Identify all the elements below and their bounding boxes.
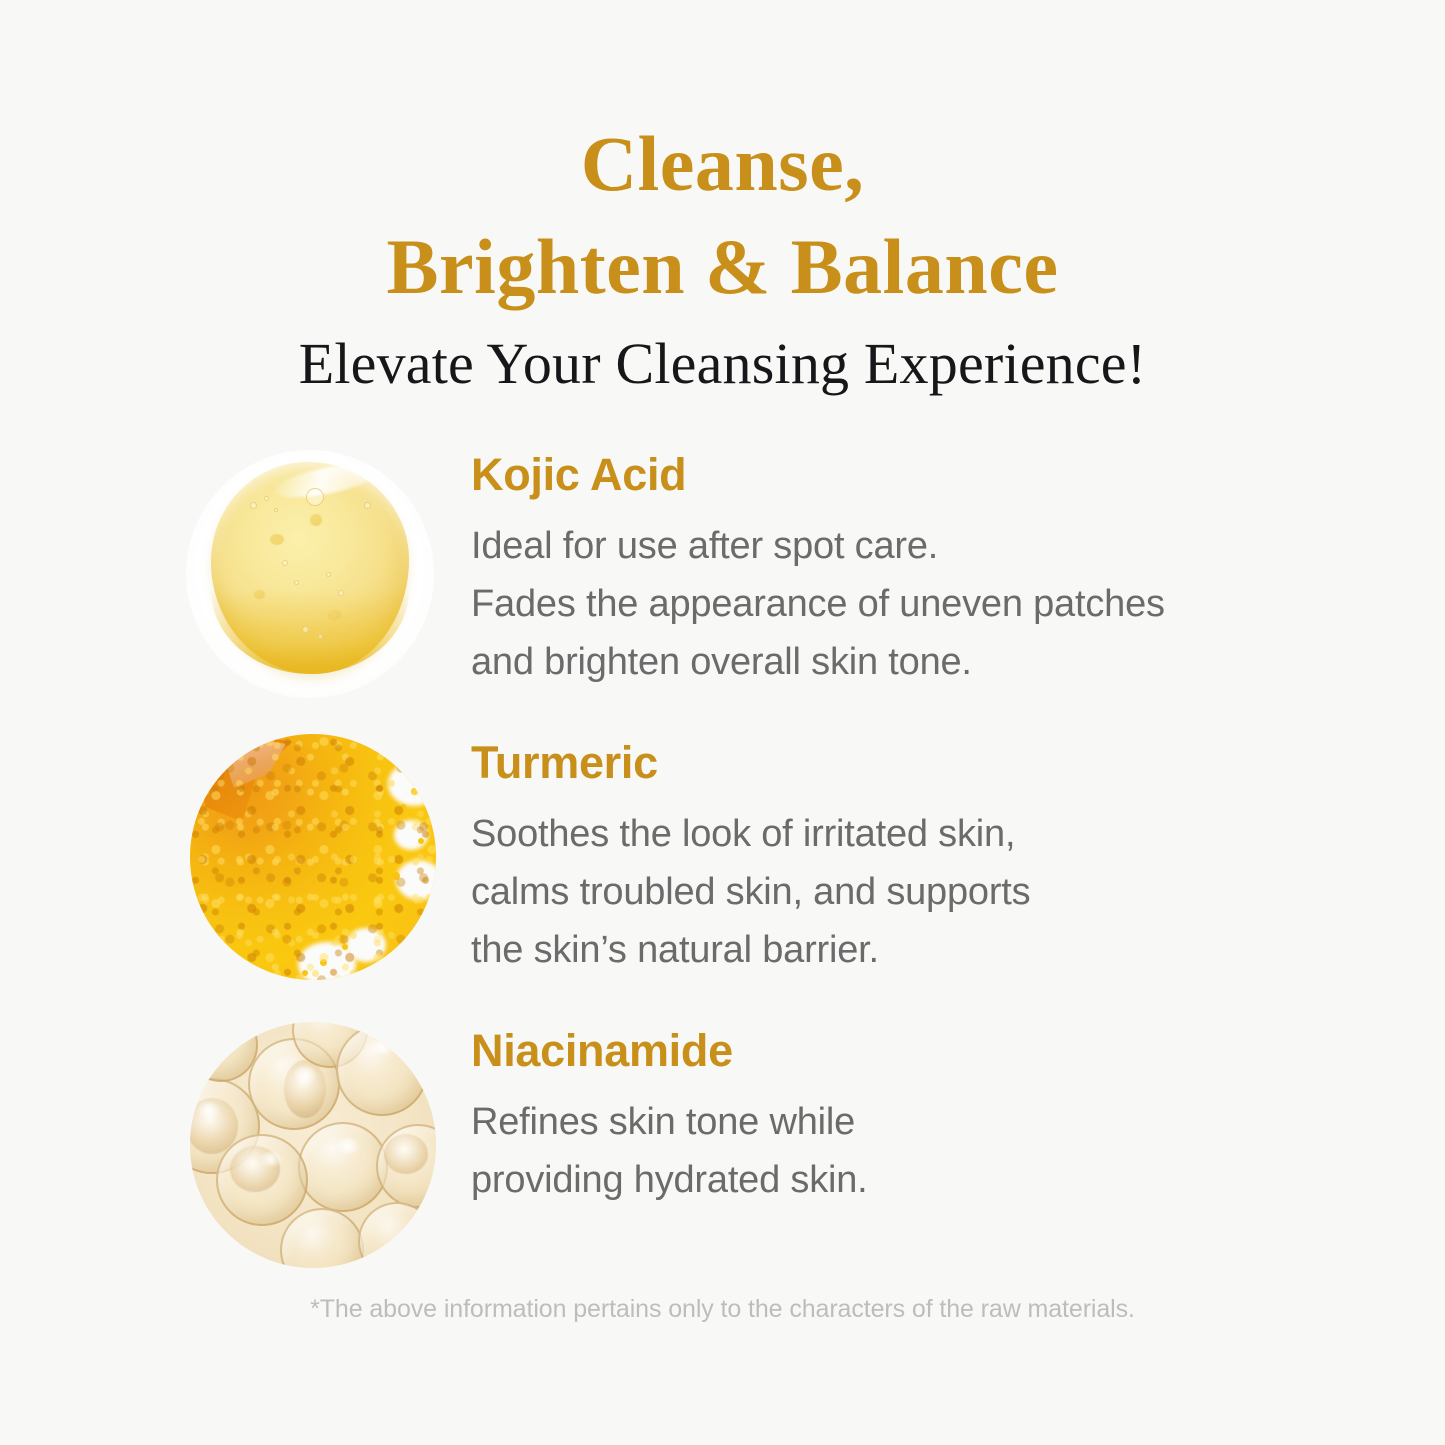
gel-bubble [364, 502, 371, 509]
turmeric-grain [392, 872, 400, 880]
ingredient-name: Niacinamide [471, 1025, 1291, 1077]
gel-bubble [318, 634, 323, 639]
ingredient-name: Kojic Acid [471, 449, 1291, 501]
capsule-highlight [336, 1138, 360, 1154]
description-line: Fades the appearance of uneven patches [471, 575, 1291, 633]
page-title: Cleanse, Brighten & Balance [0, 112, 1445, 318]
description-line: calms troubled skin, and supports [471, 863, 1291, 921]
ingredient-row-kojic-acid: Kojic Acid Ideal for use after spot care… [0, 440, 1445, 728]
ingredient-description: Soothes the look of irritated skin, calm… [471, 805, 1291, 979]
kojic-acid-gel-drop-photo [178, 440, 442, 704]
capsule-highlight [294, 1066, 316, 1084]
gel-bubble [302, 626, 309, 633]
capsule-highlight [198, 1102, 220, 1118]
description-line: providing hydrated skin. [471, 1151, 1291, 1209]
turmeric-grain [342, 944, 348, 950]
ingredient-text-turmeric: Turmeric Soothes the look of irritated s… [471, 728, 1291, 979]
niacinamide-capsules-photo [178, 1016, 442, 1280]
ingredient-row-niacinamide: Niacinamide Refines skin tone while prov… [0, 1016, 1445, 1304]
header: Cleanse, Brighten & Balance Elevate Your… [0, 112, 1445, 398]
turmeric-white-gap [298, 942, 356, 980]
turmeric-root-chunk [196, 734, 292, 852]
ingredient-thumbnail-turmeric [178, 728, 442, 992]
disclaimer-footnote: *The above information pertains only to … [0, 1295, 1445, 1324]
turmeric-white-gap [388, 762, 436, 806]
niacinamide-capsules-circle [190, 1022, 436, 1268]
gel-droplet [270, 534, 284, 545]
infographic-page: Cleanse, Brighten & Balance Elevate Your… [0, 0, 1445, 1445]
turmeric-white-gap [346, 928, 386, 962]
ingredient-name: Turmeric [471, 737, 1291, 789]
page-title-line-1: Cleanse, [581, 120, 864, 207]
turmeric-grain [302, 970, 308, 976]
gel-bubble [306, 488, 324, 506]
ingredient-text-niacinamide: Niacinamide Refines skin tone while prov… [471, 1016, 1291, 1209]
gel-bubble [326, 572, 331, 577]
ingredient-description: Ideal for use after spot care. Fades the… [471, 517, 1291, 691]
gel-bubble [338, 590, 344, 596]
gel-droplet [310, 514, 322, 526]
ingredient-list: Kojic Acid Ideal for use after spot care… [0, 440, 1445, 1304]
ingredient-thumbnail-niacinamide [178, 1016, 442, 1280]
turmeric-grain [320, 959, 327, 966]
capsule-highlight [260, 1152, 282, 1166]
description-line: and brighten overall skin tone. [471, 633, 1291, 691]
description-line: the skin’s natural barrier. [471, 921, 1291, 979]
gel-droplet [328, 610, 341, 620]
capsule-bubble [280, 1208, 364, 1268]
ingredient-description: Refines skin tone while providing hydrat… [471, 1093, 1291, 1209]
capsule-highlight [368, 1040, 396, 1054]
gel-bubble [250, 502, 257, 509]
page-title-line-2: Brighten & Balance [0, 215, 1445, 318]
capsule-bubble [336, 1024, 428, 1116]
turmeric-powder-photo [178, 728, 442, 992]
gel-bubble [294, 580, 299, 585]
capsule-highlight [212, 1026, 238, 1036]
turmeric-grain [411, 788, 418, 795]
gel-droplet [254, 590, 265, 599]
turmeric-powder-circle [190, 734, 436, 980]
page-subtitle: Elevate Your Cleansing Experience! [0, 330, 1445, 398]
description-line: Refines skin tone while [471, 1093, 1291, 1151]
capsule-bubble [358, 1202, 436, 1268]
turmeric-root-chunk-light [224, 738, 286, 796]
gel-bubble [282, 560, 288, 566]
capsule-bubble [298, 1122, 388, 1212]
capsule-core [384, 1134, 428, 1174]
gel-bubble [274, 508, 278, 512]
ingredient-row-turmeric: Turmeric Soothes the look of irritated s… [0, 728, 1445, 1016]
description-line: Ideal for use after spot care. [471, 517, 1291, 575]
turmeric-grain [418, 838, 424, 844]
description-line: Soothes the look of irritated skin, [471, 805, 1291, 863]
gel-bubble [264, 496, 269, 501]
turmeric-grain [360, 967, 365, 972]
ingredient-text-kojic-acid: Kojic Acid Ideal for use after spot care… [471, 440, 1291, 691]
turmeric-grain [401, 804, 406, 809]
ingredient-thumbnail-kojic-acid [178, 440, 442, 704]
turmeric-white-gap [396, 860, 436, 900]
turmeric-white-gap [394, 820, 428, 850]
